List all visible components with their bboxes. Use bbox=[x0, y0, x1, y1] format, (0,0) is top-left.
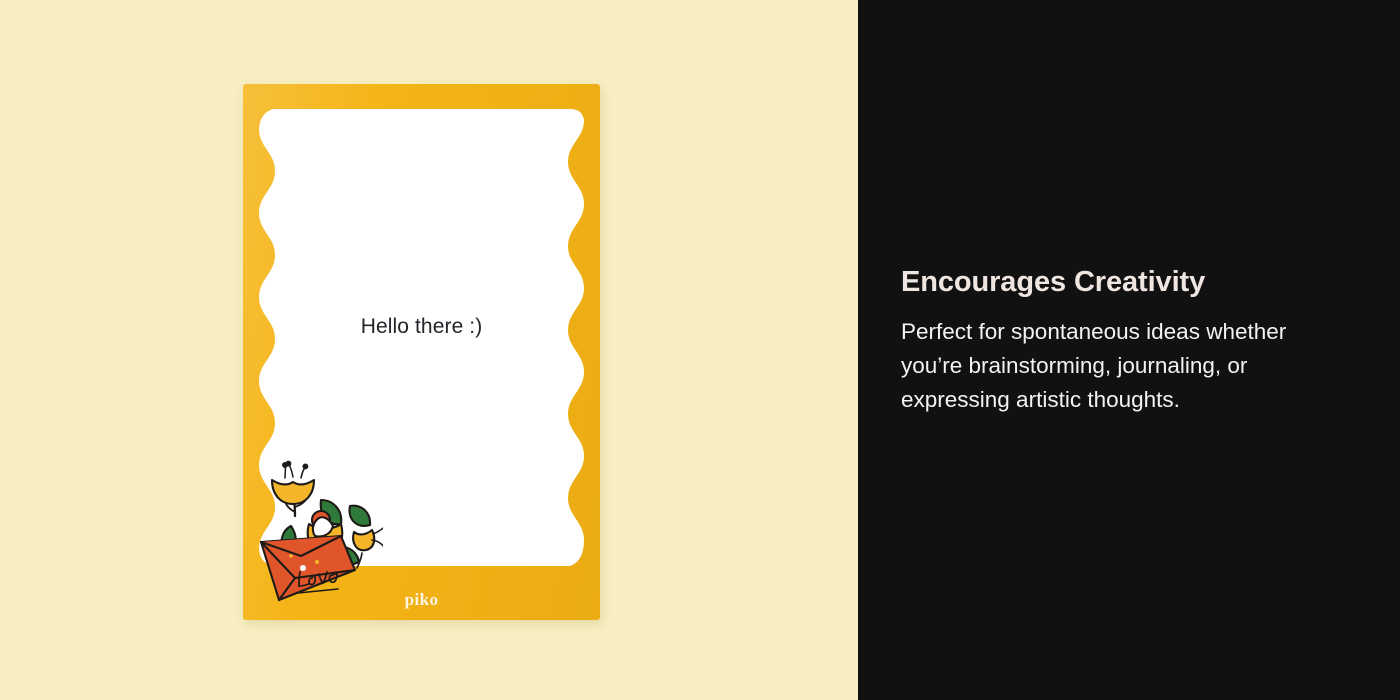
feature-copy-panel: Encourages Creativity Perfect for sponta… bbox=[858, 0, 1400, 700]
notepad-product: Hello there :) bbox=[243, 84, 600, 620]
feature-showcase: Hello there :) bbox=[0, 0, 1400, 700]
feature-copy-inner: Encourages Creativity Perfect for sponta… bbox=[901, 267, 1356, 416]
product-photo-panel: Hello there :) bbox=[0, 0, 858, 700]
feature-title: Encourages Creativity bbox=[901, 267, 1356, 299]
flowers-in-love-envelope-illustration bbox=[255, 460, 383, 606]
brand-logo: piko bbox=[243, 590, 600, 610]
feature-description: Perfect for spontaneous ideas whether yo… bbox=[901, 315, 1353, 416]
